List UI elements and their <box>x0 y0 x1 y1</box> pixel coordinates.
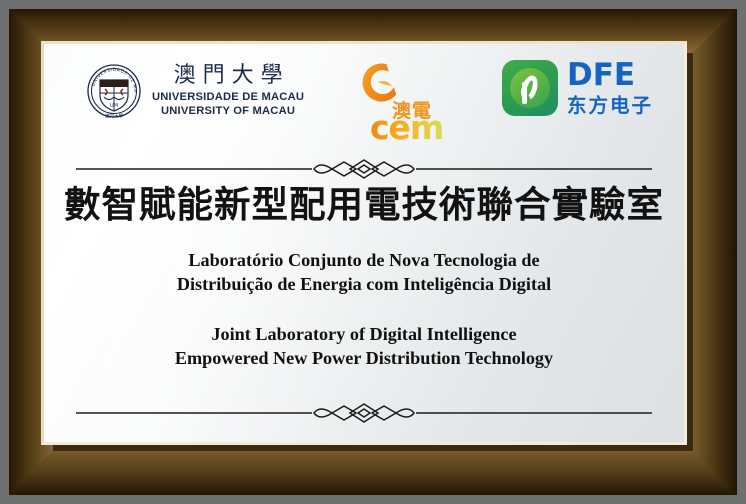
dfe-chinese-name: 东方电子 <box>567 96 653 116</box>
logo-row: UM 澳門大學 UNIVERSIDADE DE MACAU 澳門大學 UNIVE… <box>44 56 684 142</box>
title-english-line2: Empowered New Power Distribution Technol… <box>44 346 684 370</box>
um-english-name: UNIVERSITY OF MACAU <box>161 106 295 117</box>
university-crest-icon: UM 澳門大學 UNIVERSIDADE DE MACAU <box>86 62 142 120</box>
logo-cem: 澳電 cem <box>344 58 464 140</box>
logo-dfe: DFE 东方电子 <box>502 60 653 116</box>
diamond-knot-ornament <box>314 404 414 422</box>
frame-bevel-right <box>693 9 737 495</box>
title-english: Joint Laboratory of Digital Intelligence… <box>44 322 684 370</box>
um-chinese-name: 澳門大學 <box>167 65 290 87</box>
dfe-mark-icon <box>502 60 558 116</box>
um-portuguese-name: UNIVERSIDADE DE MACAU <box>152 92 304 103</box>
cem-wordmark: cem <box>370 108 443 147</box>
plaque-card: UM 澳門大學 UNIVERSIDADE DE MACAU 澳門大學 UNIVE… <box>44 44 684 442</box>
divider-top <box>44 156 684 182</box>
title-portuguese-line2: Distribuição de Energia com Inteligência… <box>44 272 684 296</box>
title-english-line1: Joint Laboratory of Digital Intelligence <box>44 322 684 346</box>
frame-bevel-bottom <box>9 451 737 495</box>
title-portuguese: Laboratório Conjunto de Nova Tecnologia … <box>44 248 684 296</box>
svg-text:澳門大學: 澳門大學 <box>105 113 124 120</box>
divider-bottom <box>44 400 684 426</box>
logo-university-of-macau: UM 澳門大學 UNIVERSIDADE DE MACAU 澳門大學 UNIVE… <box>86 62 304 120</box>
title-block: 數智賦能新型配用電技術聯合實驗室 Laboratório Conjunto de… <box>44 184 684 370</box>
title-chinese: 數智賦能新型配用電技術聯合實驗室 <box>44 184 684 226</box>
plaque-stage: UM 澳門大學 UNIVERSIDADE DE MACAU 澳門大學 UNIVE… <box>0 0 746 504</box>
title-portuguese-line1: Laboratório Conjunto de Nova Tecnologia … <box>44 248 684 272</box>
dfe-wordmark: DFE <box>567 60 653 91</box>
svg-text:UM: UM <box>110 103 118 109</box>
diamond-knot-ornament <box>314 160 414 178</box>
